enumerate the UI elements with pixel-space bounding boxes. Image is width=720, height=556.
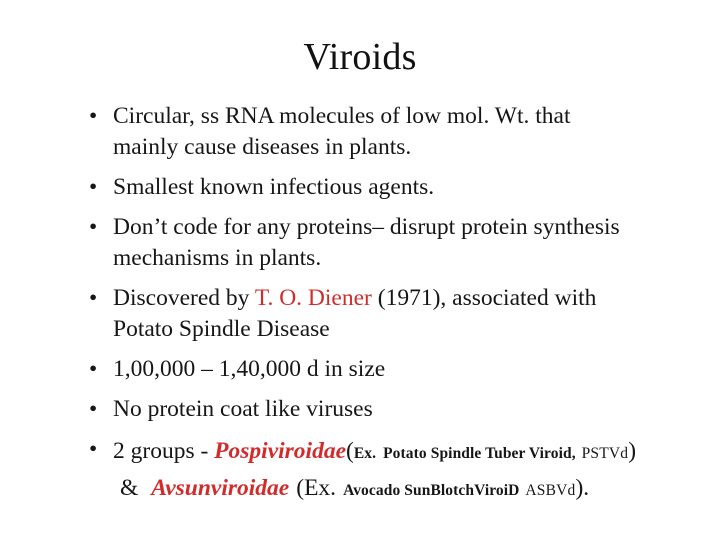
pospiviroidae-example-label: Ex. [354, 445, 376, 462]
list-item: • Don’t code for any proteins– disrupt p… [84, 212, 640, 274]
bullet-icon: • [89, 434, 97, 465]
list-item: •2 groups - Pospiviroidae(Ex.Potato Spin… [84, 434, 640, 508]
avsunviroidae-open-paren: ( [296, 475, 304, 501]
list-item: • No protein coat like viruses [84, 394, 640, 425]
bullet-no-protein-coat-text: No protein coat like viruses [113, 396, 373, 422]
bullet-icon: • [89, 172, 97, 203]
bullet-circular-ssrna-text: Circular, ss RNA molecules of low mol. W… [113, 103, 570, 160]
family-avsunviroidae: Avsunviroidae [151, 475, 289, 501]
bullet-icon: • [89, 394, 97, 425]
bullet-icon: • [89, 212, 97, 243]
list-item: • Circular, ss RNA molecules of low mol.… [84, 101, 640, 163]
bullet-icon: • [89, 283, 97, 314]
list-item: • Discovered by T. O. Diener (1971), ass… [84, 283, 640, 345]
avsunviroidae-close-paren: ). [575, 475, 589, 501]
discovered-prefix: Discovered by [113, 285, 255, 311]
two-groups-lead: 2 groups - [113, 438, 214, 464]
avsunviroidae-example-name: Avocado SunBlotchViroiD [343, 482, 519, 499]
bullet-list: • Circular, ss RNA molecules of low mol.… [84, 101, 640, 508]
slide-canvas: Viroids • Circular, ss RNA molecules of … [0, 0, 720, 556]
pospiviroidae-abbrev: PSTVd [582, 445, 629, 462]
bullet-size-range-text: 1,00,000 – 1,40,000 d in size [113, 356, 385, 382]
discoverer-name: T. O. Diener [255, 285, 372, 311]
bullet-icon: • [89, 354, 97, 385]
family-pospiviroidae: Pospiviroidae [214, 438, 346, 464]
pospiviroidae-open-paren: ( [346, 438, 354, 464]
list-item: • 1,00,000 – 1,40,000 d in size [84, 354, 640, 385]
bullet-smallest-agents-text: Smallest known infectious agents. [113, 174, 434, 200]
avsunviroidae-example-label: Ex. [304, 475, 336, 501]
avsunviroidae-abbrev: ASBVd [525, 482, 575, 499]
groups-conjunction: & [120, 475, 138, 501]
bullet-no-protein-code-text: Don’t code for any proteins– disrupt pro… [113, 214, 620, 271]
bullet-icon: • [89, 101, 97, 132]
pospiviroidae-close-paren: ) [628, 438, 636, 464]
page-title: Viroids [0, 38, 720, 78]
pospiviroidae-example-name: Potato Spindle Tuber Viroid, [383, 445, 576, 462]
list-item: • Smallest known infectious agents. [84, 172, 640, 203]
